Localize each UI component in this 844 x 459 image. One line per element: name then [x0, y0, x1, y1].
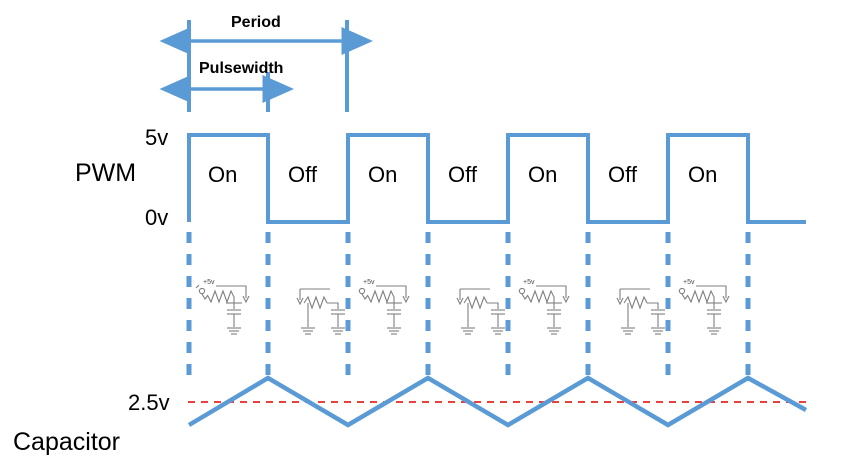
period-label: Period	[231, 14, 281, 31]
pwm-state-3: Off	[448, 163, 477, 187]
pwm-state-1: Off	[288, 163, 317, 187]
circuit-source-label-6: +5v	[683, 279, 694, 287]
pwm-state-6: On	[688, 163, 717, 187]
diagram-canvas	[0, 0, 844, 459]
pwm-state-0: On	[208, 163, 237, 187]
source-node-icon	[199, 288, 204, 293]
pwm-low-label: 0v	[145, 206, 168, 230]
circuit-source-label-0: +5v	[203, 279, 214, 287]
circuit-source-label-2: +5v	[363, 279, 374, 287]
pwm-state-5: Off	[608, 163, 637, 187]
capacitor-reference-label: 2.5v	[128, 391, 170, 415]
pwm-state-2: On	[368, 163, 397, 187]
circuit-charging-6	[679, 286, 729, 334]
circuit-discharging-5	[617, 289, 665, 334]
circuit-discharging-3	[457, 289, 505, 334]
source-node-icon	[359, 288, 364, 293]
circuit-charging-4	[519, 286, 569, 334]
circuit-charging-2	[359, 286, 409, 334]
pwm-row-label: PWM	[75, 160, 136, 187]
pwm-capacitor-diagram: Period Pulsewidth PWM 5v 0v On Off On Of…	[0, 0, 844, 459]
circuit-charging-0	[196, 285, 249, 334]
circuit-discharging-1	[297, 289, 345, 334]
pulsewidth-label: Pulsewidth	[199, 60, 283, 77]
source-node-icon	[679, 288, 684, 293]
source-node-icon	[519, 288, 524, 293]
capacitor-row-label: Capacitor Voltage	[0, 369, 120, 459]
capacitor-row-label-line1: Capacitor	[0, 428, 120, 458]
pwm-state-4: On	[528, 163, 557, 187]
circuit-source-label-4: +5v	[523, 279, 534, 287]
pwm-high-label: 5v	[145, 126, 168, 150]
